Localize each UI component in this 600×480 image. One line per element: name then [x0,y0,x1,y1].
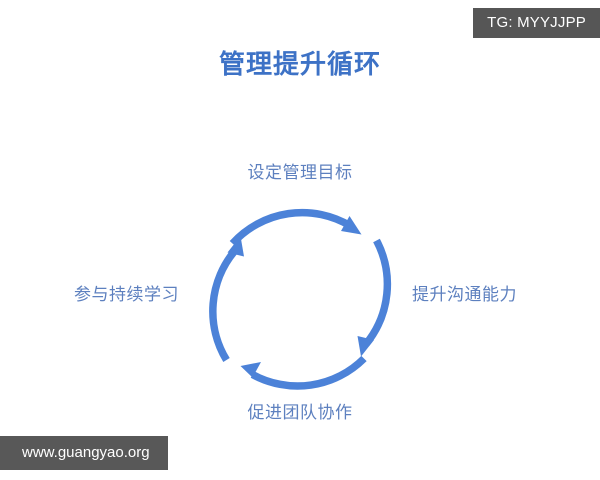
slide-canvas: 管理提升循环 设定管理目标 提升沟 [0,0,600,480]
cycle-node-label-bottom: 促进团队协作 [0,403,600,423]
arrow-bottom [241,359,365,387]
arrow-left [213,236,244,360]
cycle-node-label-top: 设定管理目标 [0,163,600,183]
arrow-right [358,241,388,357]
watermark-badge: www.guangyao.org [0,436,168,470]
cycle-diagram: 设定管理目标 提升沟通能力 促进团队协作 参与持续学习 [0,0,600,480]
cycle-node-label-left: 参与持续学习 [74,285,179,305]
tg-tag-badge: TG: MYYJJPP [473,8,600,38]
arrow-top [233,213,362,244]
cycle-node-label-right: 提升沟通能力 [412,285,517,305]
